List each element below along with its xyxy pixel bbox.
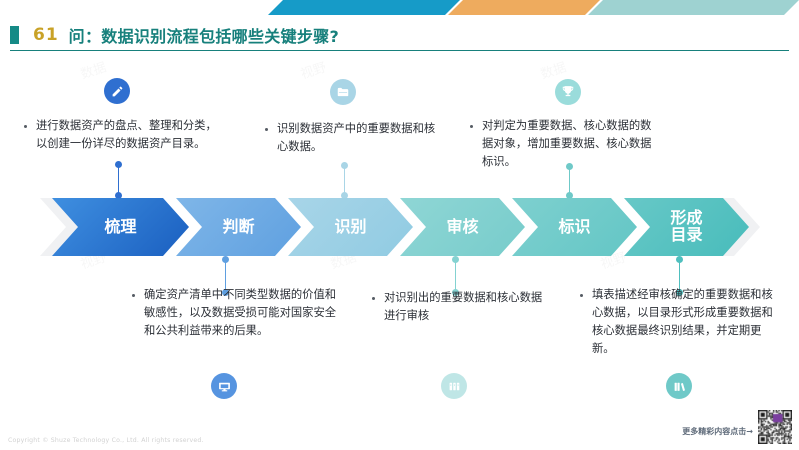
band-teal [588,0,799,15]
monitor-icon [211,373,237,399]
note-shenhe: 对识别出的重要数据和核心数据进行审核 [372,289,552,325]
note-shuli-text: 进行数据资产的盘点、整理和分类，以创建一份详尽的数据资产目录。 [36,117,224,153]
qr-code-canvas [758,410,792,444]
bullet-dot [580,294,583,297]
flow-step-label: 判断 [222,219,254,236]
connector-shuli [115,161,122,199]
watermark-text: 数据 [78,56,109,82]
bullet-dot [372,297,375,300]
page-title-row: 61 问：数据识别流程包括哪些关键步骤? [0,22,799,48]
connector-dot-top [222,256,229,263]
flow-step-6[interactable]: 形成目录 [624,198,749,256]
bullet-dot [132,294,135,297]
bullet-dot [24,125,27,128]
connector-dot-top [115,161,122,168]
note-shenhe-text: 对识别出的重要数据和核心数据进行审核 [384,289,552,325]
qr-code[interactable] [757,409,793,445]
top-decorative-banner [0,0,799,15]
flow-step-label: 标识 [558,219,590,236]
flow-step-4[interactable]: 审核 [400,198,525,256]
folder-icon [330,79,356,105]
question-number: 61 [33,25,59,45]
bullet-dot [265,128,268,131]
note-panduan-text: 确定资产清单中不同类型数据的价值和敏感性，以及数据受损可能对国家安全和公共利益带… [144,286,337,340]
connector-shibie [341,162,348,199]
copyright-text: Copyright © Shuze Technology Co., Ltd. A… [8,437,204,444]
flow-step-3[interactable]: 识别 [288,198,413,256]
trophy-icon [555,79,581,105]
note-biaoshi: 对判定为重要数据、核心数据的数据对象，增加重要数据、核心数据标识。 [470,117,660,171]
note-shuli: 进行数据资产的盘点、整理和分类，以创建一份详尽的数据资产目录。 [24,117,224,153]
connector-biaoshi [566,163,573,199]
title-divider [10,50,789,51]
connector-dot-top [676,256,683,263]
note-shibie: 识别数据资产中的重要数据和核心数据。 [265,120,445,156]
flow-step-label: 形成目录 [670,210,702,244]
page-title: 问：数据识别流程包括哪些关键步骤? [69,23,339,47]
flow-step-label: 审核 [446,219,478,236]
flow-step-5[interactable]: 标识 [512,198,637,256]
title-marker [10,26,19,44]
books-icon [666,373,692,399]
process-flow: 梳理判断识别审核标识形成目录 [40,198,760,256]
bullet-dot [470,125,473,128]
band-blue [268,0,460,15]
connector-dot-top [452,256,459,263]
cta-text: 更多精彩内容点击→ [682,426,753,437]
band-orange [448,0,600,15]
connector-line [455,259,456,293]
note-panduan: 确定资产清单中不同类型数据的价值和敏感性，以及数据受损可能对国家安全和公共利益带… [132,286,337,340]
connector-dot-top [341,162,348,169]
flow-step-label: 梳理 [104,219,136,236]
note-mulu-text: 填表描述经审核确定的重要数据和核心数据，以目录形式形成重要数据和核心数据最终识别… [592,286,775,357]
watermark-text: 视野 [298,56,329,82]
note-shibie-text: 识别数据资产中的重要数据和核心数据。 [277,120,445,156]
archive-icon [441,373,467,399]
flow-step-label: 识别 [334,219,366,236]
flow-step-2[interactable]: 判断 [176,198,301,256]
connector-dot-top [566,163,573,170]
note-mulu: 填表描述经审核确定的重要数据和核心数据，以目录形式形成重要数据和核心数据最终识别… [580,286,775,357]
pencil-icon [104,78,130,104]
